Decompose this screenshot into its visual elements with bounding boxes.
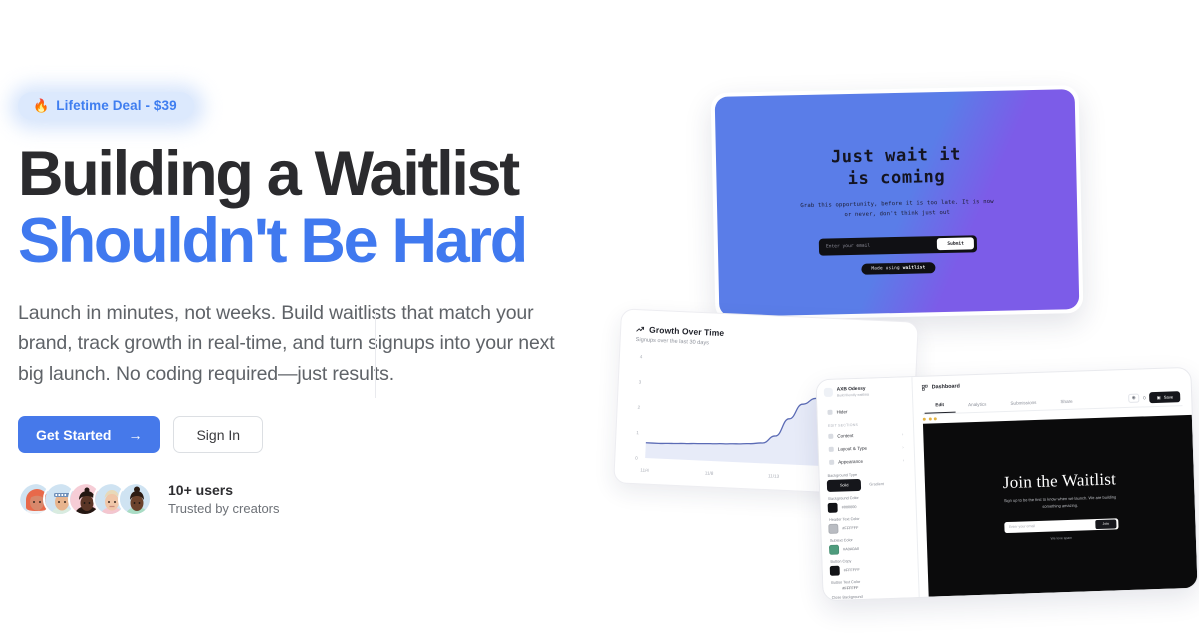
breadcrumb-label: Dashboard [932, 384, 960, 391]
tab-submissions[interactable]: Submissions [999, 395, 1047, 411]
grid-icon [922, 385, 928, 391]
badge-label: Lifetime Deal - $39 [56, 98, 176, 113]
sidebar-item-appearance[interactable]: Appearance › [826, 453, 907, 469]
user-count: 10+ users [168, 481, 280, 500]
headline-line-2: Shouldn't Be Hard [18, 208, 618, 275]
hero-text-column: 🔥 Lifetime Deal - $39 Building a Waitlis… [18, 92, 618, 517]
svg-text:3: 3 [639, 379, 642, 384]
save-icon: ▣ [1157, 394, 1161, 399]
preview-email-form[interactable]: Enter your email Submit [819, 235, 977, 255]
social-proof-text: 10+ users Trusted by creators [168, 481, 280, 517]
save-button[interactable]: ▣ Save [1150, 391, 1181, 403]
preview-eye-icon[interactable]: ◉ [1128, 393, 1139, 402]
layout-icon [829, 447, 834, 452]
landing-page: 🔥 Lifetime Deal - $39 Building a Waitlis… [0, 0, 1199, 637]
submission-count: 0 [1143, 395, 1146, 400]
dashboard-main: Dashboard Edit Analytics Submissions Sha… [912, 368, 1197, 597]
hero-subcopy: Launch in minutes, not weeks. Build wait… [18, 298, 580, 389]
chevron-right-icon: › [902, 444, 904, 449]
background-type-segment[interactable]: Solid Gradient [827, 477, 908, 492]
color-hex-value: #A0A0A0 [843, 547, 859, 552]
flame-icon: 🔥 [33, 99, 49, 112]
svg-text:1: 1 [636, 430, 639, 435]
get-started-label: Get Started [36, 427, 111, 443]
color-swatch[interactable] [830, 566, 840, 576]
get-started-button[interactable]: Get Started → [18, 416, 160, 453]
made-using-prefix: Made using [871, 266, 900, 272]
chevron-right-icon: › [903, 457, 905, 462]
svg-text:2: 2 [637, 405, 640, 410]
tab-analytics[interactable]: Analytics [957, 397, 998, 412]
svg-text:0: 0 [635, 456, 638, 461]
svg-text:4: 4 [640, 354, 643, 359]
waitlist-preview-card: Just wait it is coming Grab this opportu… [711, 85, 1084, 321]
save-label: Save [1164, 394, 1174, 399]
svg-text:11/4: 11/4 [640, 468, 649, 473]
text-icon [828, 434, 833, 439]
segment-option-gradient[interactable]: Gradient [864, 478, 889, 491]
palette-icon [829, 460, 834, 465]
preview-subheading: Sign up to be the first to know when we … [999, 494, 1121, 512]
subtext-color-row[interactable]: #A0A0A0 [829, 542, 910, 555]
preview-join-button[interactable]: Join [1096, 519, 1117, 529]
brand-logo-icon [824, 388, 833, 397]
svg-text:11/8: 11/8 [705, 470, 714, 475]
connector-line [375, 312, 376, 398]
preview-email-input[interactable]: Enter your email [826, 242, 937, 249]
sidebar-item-label: Layout & Type [838, 446, 867, 452]
chart-title-label: Growth Over Time [649, 325, 725, 338]
color-hex-value: #FFFFFF [844, 568, 860, 573]
made-using-brand: waitlist [903, 265, 926, 270]
breadcrumb: Dashboard [922, 376, 1182, 391]
chevron-right-icon: › [902, 431, 904, 436]
header-text-color-row[interactable]: #FFFFFF [828, 521, 909, 534]
close-background-value: #FFFFFF [843, 599, 912, 601]
svg-text:11/13: 11/13 [768, 473, 780, 478]
avatar-group [18, 482, 152, 516]
arrow-right-icon: → [128, 427, 142, 443]
trusted-by-label: Trusted by creators [168, 500, 280, 518]
background-color-row[interactable]: #000000 [828, 500, 909, 513]
sidebar-item-label: Hider [836, 409, 847, 414]
preview-email-field[interactable]: Enter your email [1009, 522, 1096, 529]
social-proof: 10+ users Trusted by creators [18, 481, 618, 517]
preview-signup-form[interactable]: Enter your email Join [1004, 518, 1118, 533]
tab-edit[interactable]: Edit [924, 398, 955, 414]
sign-in-button[interactable]: Sign In [173, 416, 263, 453]
avatar [118, 482, 152, 516]
dashboard-sidebar: AXB Odessy Build friendly waitlists Hide… [816, 377, 919, 600]
trend-up-icon [636, 325, 644, 333]
field-label-close-background: Close Background [832, 593, 912, 600]
waitlist-live-preview: Join the Waitlist Sign up to be the firs… [923, 415, 1198, 597]
headline-line-1: Building a Waitlist [18, 139, 518, 209]
brand-subtitle: Build friendly waitlists [837, 393, 869, 398]
preview-heading: Join the Waitlist [1003, 470, 1117, 494]
color-hex-value: #000000 [842, 505, 857, 509]
segment-option-solid[interactable]: Solid [827, 479, 862, 492]
product-showcase: Just wait it is coming Grab this opportu… [600, 0, 1199, 637]
cta-row: Get Started → Sign In [18, 416, 618, 453]
sidebar-item-label: Content [837, 433, 853, 439]
page-title: Building a Waitlist Shouldn't Be Hard [18, 141, 618, 276]
preview-submit-button[interactable]: Submit [937, 237, 974, 250]
button-text-color-value: #FFFFFF [842, 584, 911, 590]
dashboard-card: AXB Odessy Build friendly waitlists Hide… [815, 367, 1198, 601]
eye-icon [827, 410, 832, 415]
sidebar-item-label: Appearance [838, 459, 863, 465]
color-swatch[interactable] [828, 503, 838, 513]
button-copy-row[interactable]: #FFFFFF [830, 563, 911, 576]
color-hex-value: #FFFFFF [842, 526, 858, 531]
preview-description: Grab this opportunity, before it is too … [797, 197, 997, 222]
preview-note: We love spam [1051, 536, 1073, 541]
color-swatch[interactable] [829, 545, 839, 555]
tab-share[interactable]: Share [1049, 394, 1084, 409]
made-using-badge: Made using waitlist [861, 262, 935, 275]
sidebar-item-hider[interactable]: Hider [824, 403, 905, 419]
lifetime-deal-badge[interactable]: 🔥 Lifetime Deal - $39 [18, 92, 194, 120]
color-swatch[interactable] [828, 524, 838, 534]
brand-block: AXB Odessy Build friendly waitlists [824, 385, 905, 398]
dashboard-actions: ◉ 0 ▣ Save [1128, 391, 1180, 407]
